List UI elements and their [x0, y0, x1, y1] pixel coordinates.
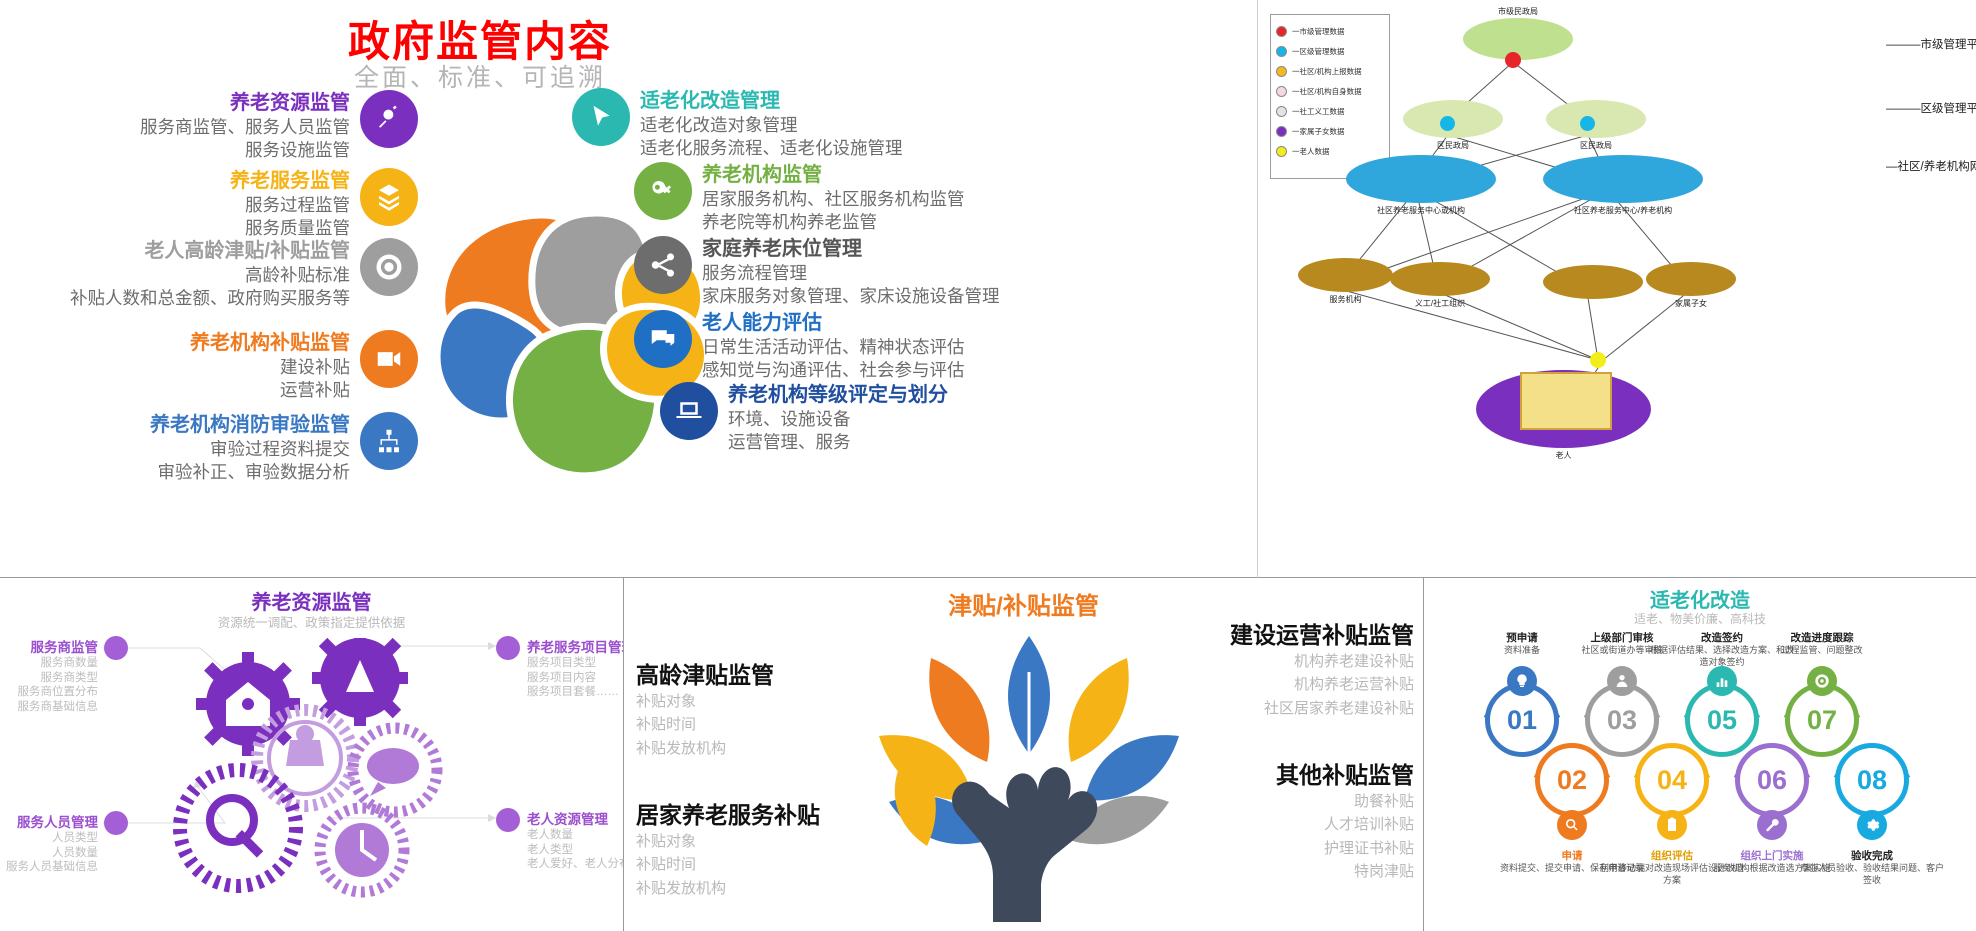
item-title: 养老机构补贴监管 — [190, 330, 350, 356]
block-line: 补贴时间 — [636, 853, 820, 876]
node-caption: 老人 — [1476, 450, 1651, 461]
tier-community-platter-2 — [1543, 155, 1703, 203]
node-title: 服务人员管理 — [0, 811, 98, 831]
aging-renovation-panel: 适老化改造 适老、物美价廉、高科技 01 预申请 资料准备 02 申请 — [1424, 578, 1976, 931]
item-line: 适老化改造对象管理 — [640, 114, 903, 137]
node-title: 服务商监管 — [8, 636, 98, 656]
tool-icon — [1757, 810, 1787, 840]
node-line: 老人爱好、老人分布... — [527, 857, 624, 872]
org-platter-1 — [1298, 258, 1393, 292]
gear-node-dot-3[interactable] — [496, 808, 520, 832]
item-line: 感知觉与沟通评估、社会参与评估 — [702, 359, 965, 382]
gov-left-item-4[interactable]: 养老机构消防审验监管 审验过程资料提交 审验补正、审验数据分析 — [28, 412, 418, 485]
item-title: 养老服务监管 — [230, 168, 350, 194]
block-line: 补贴对象 — [636, 830, 820, 853]
architecture-panel: 一市级管理数据 一区级管理数据 一社区/机构上报数据 一社区/机构自身数据 一社… — [1258, 0, 1976, 578]
step-name: 改造进度跟踪 — [1747, 630, 1897, 645]
item-line: 家床服务对象管理、家床设施设备管理 — [702, 285, 1000, 308]
subsidy-left-block-1[interactable]: 居家养老服务补贴 补贴对象 补贴时间 补贴发放机构 — [636, 796, 820, 900]
cursor-icon — [572, 88, 630, 146]
video-icon — [360, 330, 418, 388]
node-line: 服务项目类型 — [527, 656, 624, 671]
step-desc: 专业人员验收、验收结果问题、客户签收 — [1797, 863, 1947, 886]
gear-node-1[interactable]: 服务人员管理 人员类型 人员数量 服务人员基础信息 — [0, 811, 98, 875]
tier-community-platter-1 — [1346, 155, 1496, 203]
node-line: 服务商数量 — [8, 656, 98, 671]
node-caption: 社区养老服务中心或机构 — [1346, 205, 1496, 216]
block-line: 社区居家养老建设补贴 — [1146, 697, 1414, 720]
block-title: 其他补贴监管 — [1146, 756, 1414, 790]
search-icon — [1557, 810, 1587, 840]
node-caption: 社区养老服务中心/养老机构 — [1543, 205, 1703, 216]
item-title: 养老机构消防审验监管 — [150, 412, 350, 438]
sitemap-icon — [360, 412, 418, 470]
gov-left-item-3[interactable]: 养老机构补贴监管 建设补贴 运营补贴 — [58, 330, 418, 403]
gov-right-item-3[interactable]: 老人能力评估 日常生活活动评估、精神状态评估 感知觉与沟通评估、社会参与评估 — [634, 310, 965, 383]
item-line: 高龄补贴标准 — [70, 264, 350, 287]
item-title: 养老资源监管 — [140, 90, 350, 116]
node-caption: 义工/社工组织 — [1390, 298, 1490, 309]
subsidy-supervision-panel: 津贴/补贴监管 高龄津贴监管 补贴对象 补贴时间 补贴发放机构 居家养老服务补贴… — [624, 578, 1424, 931]
item-line: 审验过程资料提交 — [150, 438, 350, 461]
step-desc: 过程监管、问题整改 — [1747, 645, 1897, 657]
step-name: 验收完成 — [1797, 848, 1947, 863]
lifebuoy-icon — [360, 238, 418, 296]
node-caption: 服务机构 — [1298, 294, 1393, 305]
item-line: 建设补贴 — [190, 356, 350, 379]
tier-district-platter-2 — [1546, 100, 1646, 138]
subsidy-left-block-0[interactable]: 高龄津贴监管 补贴对象 补贴时间 补贴发放机构 — [636, 656, 774, 760]
key-icon — [634, 162, 692, 220]
block-line: 补贴发放机构 — [636, 877, 820, 900]
step-ring-06[interactable]: 06 — [1735, 743, 1809, 817]
tier-label-community: —社区/养老机构网点 — [1886, 158, 1976, 174]
node-line: 老人类型 — [527, 843, 624, 858]
item-line: 环境、设施设备 — [728, 408, 948, 431]
gov-left-item-0[interactable]: 养老资源监管 服务商监管、服务人员监管 服务设施监管 — [28, 90, 418, 163]
item-title: 适老化改造管理 — [640, 88, 903, 114]
gear-node-3[interactable]: 老人资源管理 老人数量 老人类型 老人爱好、老人分布... — [527, 808, 624, 872]
block-line: 补贴对象 — [636, 690, 774, 713]
gear-icon — [1857, 810, 1887, 840]
slide-canvas: 政府监管内容 全面、标准、可追溯 养老资源监管 服务商监管、服务人员监管 服务设… — [0, 0, 1976, 931]
step-ring-08[interactable]: 08 — [1835, 743, 1909, 817]
item-line: 养老院等机构养老监管 — [702, 211, 965, 234]
item-line: 运营补贴 — [190, 379, 350, 402]
resource-supervision-panel: 养老资源监管 资源统一调配、政策指定提供依据 — [0, 578, 624, 931]
item-line: 居家服务机构、社区服务机构监管 — [702, 188, 965, 211]
org-platter-2 — [1390, 262, 1490, 296]
gear-node-dot-0[interactable] — [104, 636, 128, 660]
gear-cluster — [150, 638, 480, 928]
block-line: 护理证书补贴 — [1146, 837, 1414, 860]
step-caption-08: 验收完成 专业人员验收、验收结果问题、客户签收 — [1797, 848, 1947, 886]
clipboard-icon — [1657, 810, 1687, 840]
item-line: 补贴人数和总金额、政府购买服务等 — [70, 287, 350, 310]
gov-right-item-4[interactable]: 养老机构等级评定与划分 环境、设施设备 运营管理、服务 — [660, 382, 948, 455]
block-title: 建设运营补贴监管 — [1146, 616, 1414, 650]
item-title: 养老机构等级评定与划分 — [728, 382, 948, 408]
gov-right-item-1[interactable]: 养老机构监管 居家服务机构、社区服务机构监管 养老院等机构养老监管 — [634, 162, 965, 235]
node-elder-data[interactable] — [1590, 352, 1606, 368]
node-caption: 区民政局 — [1546, 140, 1646, 151]
item-line: 服务过程监管 — [230, 194, 350, 217]
item-line: 日常生活活动评估、精神状态评估 — [702, 336, 965, 359]
item-line: 服务设施监管 — [140, 139, 350, 162]
step-caption-07: 改造进度跟踪 过程监管、问题整改 — [1747, 630, 1897, 657]
block-title: 高龄津贴监管 — [636, 656, 774, 690]
node-caption: 家属子女 — [1646, 298, 1736, 309]
item-title: 老人高龄津贴/补贴监管 — [70, 238, 350, 264]
gear-node-0[interactable]: 服务商监管 服务商数量 服务商类型 服务商位置分布 服务商基础信息 — [8, 636, 98, 715]
block-line: 人才培训补贴 — [1146, 813, 1414, 836]
family-platter — [1646, 262, 1736, 296]
node-line: 服务商类型 — [8, 671, 98, 686]
block-line: 机构养老建设补贴 — [1146, 650, 1414, 673]
item-title: 家庭养老床位管理 — [702, 236, 1000, 262]
target-icon — [1807, 666, 1837, 696]
tier-label-city: ———市级管理平台 — [1886, 36, 1976, 52]
node-caption: 区民政局 — [1403, 140, 1503, 151]
node-city[interactable] — [1505, 52, 1521, 68]
item-line: 服务流程管理 — [702, 262, 1000, 285]
leaf-tree-graphic — [869, 626, 1189, 926]
chat-icon — [634, 310, 692, 368]
gov-left-item-1[interactable]: 养老服务监管 服务过程监管 服务质量监管 — [60, 168, 418, 241]
node-line: 人员类型 — [0, 831, 98, 846]
bulb-icon — [1507, 666, 1537, 696]
block-title: 居家养老服务补贴 — [636, 796, 820, 830]
node-line: 服务项目内容 — [527, 671, 624, 686]
government-supervision-panel: 政府监管内容 全面、标准、可追溯 养老资源监管 服务商监管、服务人员监管 服务设… — [0, 0, 1258, 578]
gov-right-item-0[interactable]: 适老化改造管理 适老化改造对象管理 适老化服务流程、适老化设施管理 — [572, 88, 903, 161]
node-line: 服务商基础信息 — [8, 700, 98, 715]
step-ring-04[interactable]: 04 — [1635, 743, 1709, 817]
node-line: 老人数量 — [527, 828, 624, 843]
block-line: 补贴时间 — [636, 713, 774, 736]
node-title: 老人资源管理 — [527, 808, 624, 828]
item-title: 养老机构监管 — [702, 162, 965, 188]
gear-node-dot-1[interactable] — [104, 811, 128, 835]
item-title: 老人能力评估 — [702, 310, 965, 336]
share-icon — [634, 236, 692, 294]
gear-node-2[interactable]: 养老服务项目管理 服务项目类型 服务项目内容 服务项目套餐…… — [527, 636, 624, 700]
chart-icon — [1707, 666, 1737, 696]
subsidy-right-block-0[interactable]: 建设运营补贴监管 机构养老建设补贴 机构养老运营补贴 社区居家养老建设补贴 — [1146, 616, 1414, 720]
step-ring-02[interactable]: 02 — [1535, 743, 1609, 817]
user-check-icon — [1607, 666, 1637, 696]
item-line: 适老化服务流程、适老化设施管理 — [640, 137, 903, 160]
block-line: 补贴发放机构 — [636, 737, 774, 760]
node-caption: 市级民政局 — [1463, 6, 1573, 17]
item-line: 运营管理、服务 — [728, 431, 948, 454]
laptop-icon — [660, 382, 718, 440]
gov-title-block: 政府监管内容 全面、标准、可追溯 — [190, 0, 770, 100]
satellite-icon — [360, 90, 418, 148]
node-line: 人员数量 — [0, 846, 98, 861]
block-line: 机构养老运营补贴 — [1146, 673, 1414, 696]
gear-node-dot-2[interactable] — [496, 636, 520, 660]
node-line: 服务人员基础信息 — [0, 860, 98, 875]
node-district-2[interactable] — [1580, 116, 1595, 131]
item-line: 审验补正、审验数据分析 — [150, 461, 350, 484]
block-line: 特岗津贴 — [1146, 860, 1414, 883]
block-line: 助餐补贴 — [1146, 790, 1414, 813]
item-line: 服务商监管、服务人员监管 — [140, 116, 350, 139]
subsidy-right-block-1[interactable]: 其他补贴监管 助餐补贴 人才培训补贴 护理证书补贴 特岗津贴 — [1146, 756, 1414, 883]
layers-icon — [360, 168, 418, 226]
gov-right-item-2[interactable]: 家庭养老床位管理 服务流程管理 家床服务对象管理、家床设施设备管理 — [634, 236, 1000, 309]
gov-left-item-2[interactable]: 老人高龄津贴/补贴监管 高龄补贴标准 补贴人数和总金额、政府购买服务等 — [10, 238, 418, 311]
node-line: 服务商位置分布 — [8, 685, 98, 700]
elder-home-house — [1520, 372, 1612, 430]
node-line: 服务项目套餐…… — [527, 685, 624, 700]
node-district-1[interactable] — [1440, 116, 1455, 131]
node-title: 养老服务项目管理 — [527, 636, 624, 656]
tier-label-district: ———区级管理平台 — [1886, 100, 1976, 116]
org-platter-3 — [1543, 265, 1643, 299]
